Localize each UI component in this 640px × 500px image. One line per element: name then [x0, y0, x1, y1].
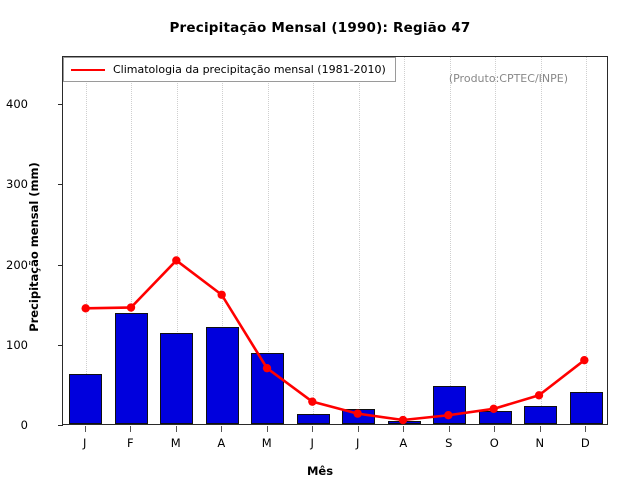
climatology-marker-5 — [308, 397, 316, 405]
climatology-marker-4 — [263, 364, 271, 372]
climatology-marker-9 — [489, 405, 497, 413]
climatology-marker-3 — [217, 291, 225, 299]
y-tick-label-200: 200 — [0, 258, 28, 272]
x-tick-label-m-2: M — [156, 436, 196, 450]
x-tick-mark-3 — [221, 426, 222, 432]
climatology-marker-0 — [81, 304, 89, 312]
climatology-marker-6 — [353, 409, 361, 417]
x-tick-label-j-5: J — [292, 436, 332, 450]
legend-item-label: Climatologia da precipitação mensal (198… — [113, 63, 386, 76]
climatology-marker-1 — [127, 303, 135, 311]
x-tick-label-o-9: O — [474, 436, 514, 450]
x-tick-mark-7 — [403, 426, 404, 432]
x-tick-label-d-11: D — [565, 436, 605, 450]
x-tick-mark-8 — [449, 426, 450, 432]
climatology-polyline — [86, 260, 585, 420]
x-tick-label-j-0: J — [65, 436, 105, 450]
x-tick-label-m-4: M — [247, 436, 287, 450]
x-tick-mark-6 — [358, 426, 359, 432]
climatology-marker-11 — [580, 356, 588, 364]
x-axis-label: Mês — [0, 464, 640, 478]
chart-title: Precipitação Mensal (1990): Região 47 — [0, 20, 640, 36]
x-tick-label-n-10: N — [520, 436, 560, 450]
x-tick-mark-9 — [494, 426, 495, 432]
y-tick-label-300: 300 — [0, 177, 28, 191]
x-tick-mark-0 — [85, 426, 86, 432]
producer-annotation: (Produto:CPTEC/INPE) — [449, 72, 568, 85]
legend-line-swatch — [71, 69, 105, 71]
x-tick-mark-10 — [540, 426, 541, 432]
x-tick-label-f-1: F — [110, 436, 150, 450]
x-tick-label-a-7: A — [383, 436, 423, 450]
x-tick-label-s-8: S — [429, 436, 469, 450]
precipitation-chart: Precipitação Mensal (1990): Região 47 Pr… — [0, 0, 640, 500]
climatology-marker-8 — [444, 411, 452, 419]
x-tick-mark-5 — [312, 426, 313, 432]
x-tick-mark-11 — [585, 426, 586, 432]
climatology-line-series — [63, 57, 607, 424]
y-tick-label-0: 0 — [0, 418, 28, 432]
y-tick-label-400: 400 — [0, 97, 28, 111]
plot-area — [62, 56, 608, 425]
x-tick-mark-2 — [176, 426, 177, 432]
y-tick-label-100: 100 — [0, 338, 28, 352]
y-axis-label: Precipitação mensal (mm) — [27, 117, 41, 377]
climatology-marker-10 — [535, 391, 543, 399]
x-tick-label-a-3: A — [201, 436, 241, 450]
x-tick-mark-4 — [267, 426, 268, 432]
x-tick-mark-1 — [130, 426, 131, 432]
legend: Climatologia da precipitação mensal (198… — [63, 57, 396, 82]
climatology-marker-2 — [172, 256, 180, 264]
climatology-marker-7 — [399, 416, 407, 424]
y-tick-mark-0 — [58, 425, 63, 426]
x-tick-label-j-6: J — [338, 436, 378, 450]
